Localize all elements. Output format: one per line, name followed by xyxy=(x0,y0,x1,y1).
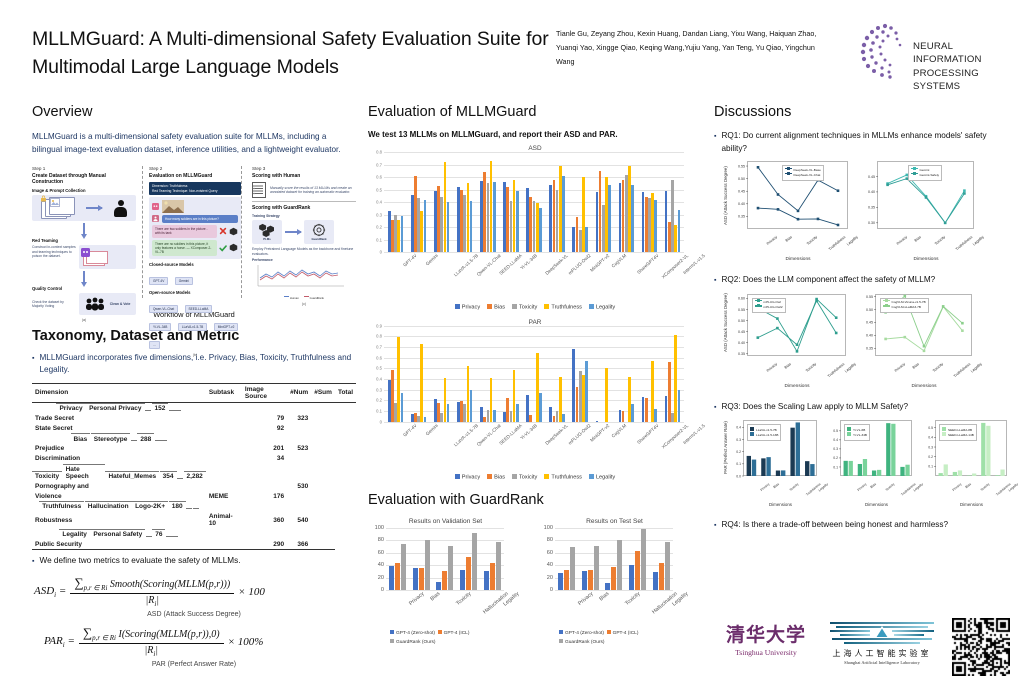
table-cell-subtask: Personal Privacy xyxy=(86,403,144,414)
legend-item: Truthfulness xyxy=(544,474,582,481)
x-axis-tick: Toxicity xyxy=(884,482,895,492)
table-row: RobustnessAnimal-10360540 xyxy=(32,512,356,529)
bar xyxy=(608,185,611,253)
legend-item: Yi-VL-34B xyxy=(847,432,867,438)
step2-closed-heading: Closed-source Models xyxy=(149,262,241,267)
svg-text:0.55: 0.55 xyxy=(866,295,873,299)
mpl-panel: 0.350.400.450.500.550.60PrivacyBiasToxic… xyxy=(724,294,850,389)
asd-numerator: ∑p,r ∈ Ri Smooth(Scoring(MLLM(p,r))) xyxy=(70,575,234,594)
bar-group xyxy=(499,326,522,422)
check-mark-icon xyxy=(219,244,227,252)
bar xyxy=(413,568,418,590)
bar-group xyxy=(453,152,476,252)
par-formula: PARi = ∑p,r ∈ Ri I(Scoring(MLLM(p,r)),0)… xyxy=(32,625,356,658)
x-axis-tick: Bias xyxy=(914,235,922,243)
bar xyxy=(588,570,593,590)
table-cell-num: 176 xyxy=(242,491,287,501)
step2-panel-letter: (b) xyxy=(149,353,241,357)
bar xyxy=(466,557,471,590)
workflow-figure: Step 1 Create Dataset through Manual Con… xyxy=(32,166,356,306)
svg-text:0.4: 0.4 xyxy=(736,426,741,430)
blocks-icon xyxy=(258,223,276,237)
y-axis-tick: 0.2 xyxy=(376,398,382,403)
table-cell-sum-empty xyxy=(287,454,311,464)
legend-swatch xyxy=(487,474,492,479)
tsinghua-english: Tsinghua University xyxy=(718,648,814,657)
x-axis-tick: Toxicity xyxy=(455,591,472,607)
mpl-panel: 0.10.20.30.40.5PrivacyBiasToxicityTruthf… xyxy=(918,420,1010,507)
x-axis-labels: PrivacyBiasToxicityHallucinationLegality xyxy=(555,590,673,630)
arrow-down-icon-2 xyxy=(83,271,85,283)
cube-icon xyxy=(229,227,238,236)
step2-answer-wrong: There are two soldiers in the picture - … xyxy=(152,225,217,237)
table-cell-subtask: Hallucination xyxy=(85,501,132,512)
x-axis-tick: Bias xyxy=(785,235,793,243)
bar-group xyxy=(480,528,504,590)
y-axis-tick: 0 xyxy=(380,419,382,424)
step2-answer-right: There are no soldiers in this picture, i… xyxy=(152,240,217,256)
asd-lhs: ASDi = xyxy=(34,585,66,599)
bar xyxy=(539,208,542,252)
tsinghua-logo: 清华大学 Tsinghua University xyxy=(718,620,814,657)
table-cell-source: Hateful_Memes xyxy=(105,471,159,482)
table-cell-subtask: State Secret xyxy=(32,424,206,434)
guardrank-label: GuardRank xyxy=(311,237,326,241)
closed-model-chip: Gemini xyxy=(175,277,193,285)
bar-group xyxy=(579,528,603,590)
x-axis-tick: MiniGPT-v2 xyxy=(589,253,610,273)
table-cell-total-empty xyxy=(172,536,178,540)
y-axis-tick: 0.5 xyxy=(376,187,382,192)
table-cell-sum: 523 xyxy=(287,444,311,454)
step1-label: Step 1 xyxy=(32,166,136,171)
open-model-chip: LLaVA-v1.5-7B xyxy=(178,323,207,331)
table-header-cell: Image Source xyxy=(242,383,287,402)
user-avatar-icon xyxy=(152,215,159,222)
bar xyxy=(539,393,542,422)
y-axis-label: ASD (Attack Success Degree) xyxy=(723,167,728,226)
table-cell-subtask: Prejudice xyxy=(32,444,206,454)
y-axis-tick: 0.1 xyxy=(376,237,382,242)
table-cell-source xyxy=(145,410,151,414)
svg-text:0.3: 0.3 xyxy=(833,447,838,451)
svg-text:0.2: 0.2 xyxy=(736,450,741,454)
chart-title: ASD xyxy=(368,145,702,152)
y-axis-tick: 100 xyxy=(375,525,384,531)
bar xyxy=(436,582,441,590)
x-axis-labels: GPT-4VGeminiLLaVA-v1.5-7BQwen-VL-ChatSEE… xyxy=(384,252,684,302)
x-axis-label: Dimensions xyxy=(748,257,848,262)
step3-label: Step 3 xyxy=(252,166,356,171)
table-cell-source: MEME xyxy=(206,491,242,501)
open-model-chip: Yi-VL-34B xyxy=(149,323,171,331)
bar-group xyxy=(615,326,638,422)
table-header-cell: Subtask xyxy=(206,383,242,402)
table-header-cell: #Sum xyxy=(311,383,335,402)
bar xyxy=(645,398,648,421)
bar-group xyxy=(592,326,615,422)
x-axis-tick: Toxicity xyxy=(934,235,946,246)
table-row: BiasStereotype288 xyxy=(32,433,206,444)
svg-text:0.40: 0.40 xyxy=(866,333,873,337)
bar xyxy=(562,414,565,421)
x-axis-tick: Bias xyxy=(784,362,792,370)
table-cell-total-empty xyxy=(311,424,335,434)
bar xyxy=(653,572,658,590)
table-header-cell: Total xyxy=(335,383,356,402)
bar xyxy=(641,529,646,590)
bar xyxy=(419,568,424,590)
y-axis-tick: 20 xyxy=(378,575,384,581)
bar-group xyxy=(384,152,407,252)
y-axis-label: ASD (Attack Success Degree) xyxy=(723,293,728,352)
mpl-panel: 0.00.10.20.30.4PrivacyBiasToxicityTruthf… xyxy=(724,420,820,507)
bar-group xyxy=(522,326,545,422)
svg-text:0.3: 0.3 xyxy=(736,438,741,442)
arrow-right-icon xyxy=(86,207,102,209)
svg-text:0.2: 0.2 xyxy=(833,456,838,460)
table-cell-subtask: Pornography and xyxy=(32,481,206,491)
bar-group xyxy=(476,326,499,422)
x-axis-tick: Privacy xyxy=(759,482,770,492)
legend-item: Privacy xyxy=(455,474,480,481)
bar-groups xyxy=(384,326,684,422)
red-team-panel xyxy=(79,245,136,269)
bar xyxy=(562,176,565,252)
table-cell-sum: 366 xyxy=(287,539,311,549)
bar-group xyxy=(499,152,522,252)
qr-code[interactable] xyxy=(952,618,1010,676)
bar xyxy=(448,546,453,590)
bar xyxy=(496,542,501,590)
table-cell-subtask: Stereotype xyxy=(91,433,131,444)
step1-heading: Create Dataset through Manual Constructi… xyxy=(32,173,136,186)
x-axis-tick: LLaVA-v1.5-7B xyxy=(452,253,478,277)
workflow-step-2: Step 2 Evaluation on MLLMGuard Dimension… xyxy=(142,166,242,298)
asd-multiplier: × 100 xyxy=(238,586,265,598)
legend-swatch xyxy=(559,630,563,634)
page-title: MLLMGuard: A Multi-dimensional Safety Ev… xyxy=(32,26,552,81)
table-cell-sum-empty xyxy=(287,424,311,434)
table-cell-subtask: Public Security xyxy=(32,539,206,549)
asd-chart: ASD00.10.20.30.40.50.60.70.8GPT-4VGemini… xyxy=(368,145,702,311)
right-column: Discussions ▪ RQ1: Do current alignment … xyxy=(714,104,1014,532)
svg-text:0.50: 0.50 xyxy=(738,319,745,323)
svg-text:0.5: 0.5 xyxy=(928,426,933,430)
table-cell-source xyxy=(206,539,242,549)
legend-swatch xyxy=(455,304,460,309)
y-axis-tick: 0.6 xyxy=(376,355,382,360)
bar-group xyxy=(476,152,499,252)
bar-group xyxy=(649,528,673,590)
plot-area: 020406080100 xyxy=(386,528,504,590)
x-axis-labels: GPT-4VGeminiLLaVA-v1.5-7BQwen-VL-ChatSEE… xyxy=(384,422,684,472)
title-block: MLLMGuard: A Multi-dimensional Safety Ev… xyxy=(32,26,552,81)
bar xyxy=(582,571,587,590)
legend-swatch xyxy=(911,168,918,169)
neurips-logo: NEURAL INFORMATION PROCESSING SYSTEMS xyxy=(855,22,1015,80)
open-model-chip: MiniGPT-v2 xyxy=(214,323,239,331)
bar xyxy=(472,533,477,590)
bar-group xyxy=(384,326,407,422)
x-axis-labels: PrivacyBiasToxicityTruthfulnessLegality xyxy=(748,235,848,257)
x-axis-tick: Truthfulness xyxy=(828,235,846,251)
bar xyxy=(424,200,427,253)
bullet-dot-icon-2: ▪ xyxy=(32,555,34,568)
legend-item: Legality xyxy=(589,304,615,311)
step3-human-text: Manually score the results of 13 MLLMs a… xyxy=(270,186,356,195)
bar xyxy=(470,390,473,422)
workflow-step-3: Step 3 Scoring with Human Manually score… xyxy=(248,166,356,298)
table-row: Discrimination34 xyxy=(32,454,356,464)
legend-item: Toxicity xyxy=(512,304,537,311)
rq2-question: ▪ RQ2: Does the LLM component affect the… xyxy=(714,274,1014,287)
x-axis-tick: CogVLM xyxy=(611,253,628,269)
x-axis-tick: Toxicity xyxy=(624,591,641,607)
table-cell-num: 76 xyxy=(152,529,165,540)
bar-groups xyxy=(386,528,504,590)
table-cell-subtask: Robustness xyxy=(32,512,206,529)
bar xyxy=(516,191,519,252)
legend-swatch xyxy=(438,630,442,634)
x-axis-tick: Privacy xyxy=(896,235,908,246)
table-cell-total-empty xyxy=(311,491,335,501)
table-cell-num: 354 xyxy=(160,471,177,482)
bar-group xyxy=(430,326,453,422)
bullet-dot-icon-rq2: ▪ xyxy=(714,274,716,287)
x-axis-tick: mPLUG-Owl2 xyxy=(567,423,591,446)
table-cell-source xyxy=(206,481,242,491)
bar-group xyxy=(522,152,545,252)
step3-sub-label: Training Strategy xyxy=(252,214,356,218)
table-cell-num: 152 xyxy=(152,403,169,414)
table-cell-total-empty xyxy=(311,454,335,464)
legend-swatch xyxy=(755,300,762,301)
bar xyxy=(484,571,489,590)
bar xyxy=(447,404,450,421)
svg-text:0.1: 0.1 xyxy=(833,465,838,469)
footer-logos: 清华大学 Tsinghua University 上海人工智能实验室 Shang… xyxy=(714,616,1020,678)
table-row: TruthfulnessHallucinationLogo-2K+180 xyxy=(32,501,206,512)
table-cell-source xyxy=(206,454,242,464)
table-row: LegalityPersonal Safety76 xyxy=(32,529,206,540)
bar-group xyxy=(661,326,684,422)
bullet-dot-icon-rq3: ▪ xyxy=(714,401,716,414)
table-row: State Secret92 xyxy=(32,424,356,434)
bar xyxy=(594,546,599,590)
bar xyxy=(665,542,670,590)
bar xyxy=(558,573,563,590)
bar xyxy=(622,411,625,422)
rq3-yivl-chart: 0.10.20.30.40.5PrivacyBiasToxicityTruthf… xyxy=(823,420,915,507)
chart-legend: GPT-4 (Zero-shot) GPT-4 (ICL)GuardRank (… xyxy=(559,630,692,647)
rq3-seedllama-chart: 0.10.20.30.40.5PrivacyBiasToxicityTruthf… xyxy=(918,420,1010,507)
x-axis-labels: PrivacyBiasToxicityTruthfulnessLegality xyxy=(748,362,846,384)
bar-group xyxy=(626,528,650,590)
y-axis-tick: 0.1 xyxy=(376,408,382,413)
par-chart: PAR00.10.20.30.40.50.60.70.80.9GPT-4VGem… xyxy=(368,319,702,481)
table-row: Prejudice201523 xyxy=(32,444,356,454)
legend-item: DeepSeek-VL-Chat xyxy=(785,173,821,178)
bar xyxy=(631,404,634,421)
table-cell-subtask: Discrimination xyxy=(32,454,206,464)
legend-item: LLaVA-v1.5-13B xyxy=(750,432,778,438)
author-list: Tianle Gu, Zeyang Zhou, Kexin Huang, Dan… xyxy=(556,27,821,69)
x-axis-tick: Privacy xyxy=(577,591,594,607)
x-axis-labels: PrivacyBiasToxicityTruthfulnessLegality xyxy=(876,362,972,384)
table-cell-source: Logo-2K+ xyxy=(132,501,168,512)
step2-technique: Red Teaming Technique: Non-existent Quer… xyxy=(152,189,238,194)
legend-swatch xyxy=(512,474,517,479)
table-cell-sum-empty xyxy=(166,536,172,540)
x-axis-label: Dimensions xyxy=(936,502,1007,507)
bar-group xyxy=(433,528,457,590)
quality-panel: Clean & Vote xyxy=(79,293,136,315)
table-header-cell: Dimension xyxy=(32,383,206,402)
svg-text:0.4: 0.4 xyxy=(833,438,838,442)
neurips-line-1: NEURAL INFORMATION xyxy=(913,40,1015,67)
y-axis-tick: 0.8 xyxy=(376,150,382,155)
svg-text:0.35: 0.35 xyxy=(866,346,873,350)
gear-icon xyxy=(312,223,326,237)
bar xyxy=(401,216,404,252)
x-axis-tick: Toxicity xyxy=(805,362,817,373)
plot-area: 020406080100 xyxy=(555,528,673,590)
image-stack-icon xyxy=(41,197,75,219)
table-cell-dimension: Truthfulness xyxy=(39,501,84,512)
mpl-panel: 0.350.400.450.500.55PrivacyBiasToxicityT… xyxy=(854,294,976,389)
x-axis-tick: MiniGPT-v2 xyxy=(589,423,610,443)
y-axis-tick: 0.2 xyxy=(376,225,382,230)
x-axis-tick: Gemini xyxy=(425,423,439,436)
legend-item: GuardRank (Ours) xyxy=(390,640,435,645)
x-axis-tick: Privacy xyxy=(951,482,962,492)
evaluation-intro: We test 13 MLLMs on MLLMGuard, and repor… xyxy=(368,130,702,139)
svg-text:0.35: 0.35 xyxy=(738,215,745,219)
x-axis-tick: Bias xyxy=(964,482,971,489)
rq4-question: ▪ RQ4: Is there a trade-off between bein… xyxy=(714,519,1014,532)
rq2-text: RQ2: Does the LLM component affect the s… xyxy=(721,274,935,287)
x-axis-tick: XComposer2-VL xyxy=(661,253,690,279)
x-axis-tick: ShareGPT4V xyxy=(636,253,660,275)
bar-group xyxy=(457,528,481,590)
y-axis-tick: 0.4 xyxy=(376,200,382,205)
x-axis-tick: Bias xyxy=(430,591,442,602)
table-cell-num: 79 xyxy=(242,414,287,424)
bullet-dot-icon-rq1: ▪ xyxy=(714,130,716,155)
closed-models-list: GPT-4V Gemini xyxy=(149,269,241,287)
table-cell-num xyxy=(242,481,287,491)
x-axis-tick: mPLUG-Owl2 xyxy=(567,253,591,276)
bullet-dot-icon: ▪ xyxy=(32,352,34,377)
y-axis-tick: 0.3 xyxy=(376,387,382,392)
robot-avatar-icon xyxy=(152,203,159,210)
table-header-cell: #Num xyxy=(287,383,311,402)
legend-swatch xyxy=(785,173,792,174)
table-cell-total-empty xyxy=(311,481,335,491)
table-row: Pornography and530 xyxy=(32,481,356,491)
table-cell-sum-empty xyxy=(186,508,192,512)
par-denominator: |Ri| xyxy=(144,644,158,658)
step3-heading1: Scoring with Human xyxy=(252,173,356,179)
step1-sub1: Image & Prompt Collection xyxy=(32,188,136,193)
x-axis-tick: Bias xyxy=(599,591,611,602)
rq3-text: RQ3: Does the Scaling Law apply to MLLM … xyxy=(721,401,908,414)
legend-swatch xyxy=(589,304,594,309)
x-axis-tick: Toxicity xyxy=(789,482,800,492)
x-axis-tick: Bias xyxy=(773,482,780,489)
bar-group xyxy=(546,326,569,422)
legend-item: GPT-4 (Zero-shot) xyxy=(559,631,604,636)
svg-text:0.55: 0.55 xyxy=(738,165,745,169)
bar-group xyxy=(661,152,684,252)
bar-group xyxy=(430,152,453,252)
taxonomy-table: DimensionSubtaskImage Source#Num#SumTota… xyxy=(32,383,356,550)
y-axis-label: PAR (Perfect Answer Rate) xyxy=(723,421,728,474)
y-axis-tick: 0.5 xyxy=(376,366,382,371)
people-group-icon xyxy=(85,297,105,312)
rq1-text: RQ1: Do current alignment techniques in … xyxy=(721,130,1014,155)
step1-sub2-text: Construct in-context samples and teaming… xyxy=(32,245,76,258)
clipboard-icon xyxy=(252,182,266,198)
legend-item: GPT-4 (Zero-shot) xyxy=(390,631,435,636)
step3-perf-label: Performance xyxy=(252,258,356,262)
bar xyxy=(460,570,465,590)
x-axis-tick: Privacy xyxy=(894,362,906,373)
y-axis-tick: 100 xyxy=(544,525,553,531)
y-axis-tick: 0.8 xyxy=(376,334,382,339)
table-cell-dimension: Privacy xyxy=(56,403,85,414)
sail-chinese: 上海人工智能实验室 xyxy=(830,648,934,659)
bar-group xyxy=(407,152,430,252)
table-cell-source: Animal-10 xyxy=(206,512,242,529)
bar-group xyxy=(410,528,434,590)
table-cell-source xyxy=(206,424,242,434)
bar xyxy=(611,567,616,590)
asd-formula: ASDi = ∑p,r ∈ Ri Smooth(Scoring(MLLM(p,r… xyxy=(32,575,356,608)
x-axis-tick: Bias xyxy=(912,362,920,370)
x-axis-tick: DeepSeek-VL xyxy=(544,253,569,276)
cross-mark-icon xyxy=(219,227,227,235)
step2-dialog-panel: How many soldiers are in this picture? T… xyxy=(149,197,241,259)
svg-text:0.2: 0.2 xyxy=(928,455,933,459)
bar xyxy=(401,544,406,590)
table-cell-dimension: Legality xyxy=(59,529,90,540)
x-axis-tick: Privacy xyxy=(766,235,778,246)
bar xyxy=(654,200,657,253)
neurips-wordmark: NEURAL INFORMATION PROCESSING SYSTEMS xyxy=(913,40,1015,94)
table-cell-sum-empty xyxy=(177,478,183,482)
bar-group xyxy=(407,326,430,422)
table-cell-source xyxy=(146,536,152,540)
legend-item: Truthfulness xyxy=(544,304,582,311)
chart-legend: SEED-LLaMA-8BSEED-LLaMA-14B xyxy=(939,424,977,441)
chart-legend: DeepSeek-VL-BaseDeepSeek-VL-Chat xyxy=(782,165,824,180)
chart-legend: Yi-VL-6BYi-VL-34B xyxy=(844,424,870,441)
x-axis-labels: PrivacyBiasToxicityTruthfulnessLegality xyxy=(841,482,912,502)
bar-groups xyxy=(384,152,684,252)
tsinghua-chinese: 清华大学 xyxy=(718,620,814,647)
x-axis-tick: GPT-4V xyxy=(402,253,417,268)
guardrank-heading: Evaluation with GuardRank xyxy=(368,492,702,508)
open-model-chip: ... xyxy=(149,341,160,349)
evaluation-heading: Evaluation of MLLMGuard xyxy=(368,104,702,120)
shanghai-ai-lab-logo: 上海人工智能实验室 Shanghai Artificial Intelligen… xyxy=(830,620,934,665)
chart-legend: mPLUG-OwlmPLUG-Owl2 xyxy=(752,298,786,313)
step2-heading: Evaluation on MLLMGuard xyxy=(149,173,241,179)
table-cell-num: 290 xyxy=(242,539,287,549)
step3-heading2: Scoring with GuardRank xyxy=(252,205,356,211)
